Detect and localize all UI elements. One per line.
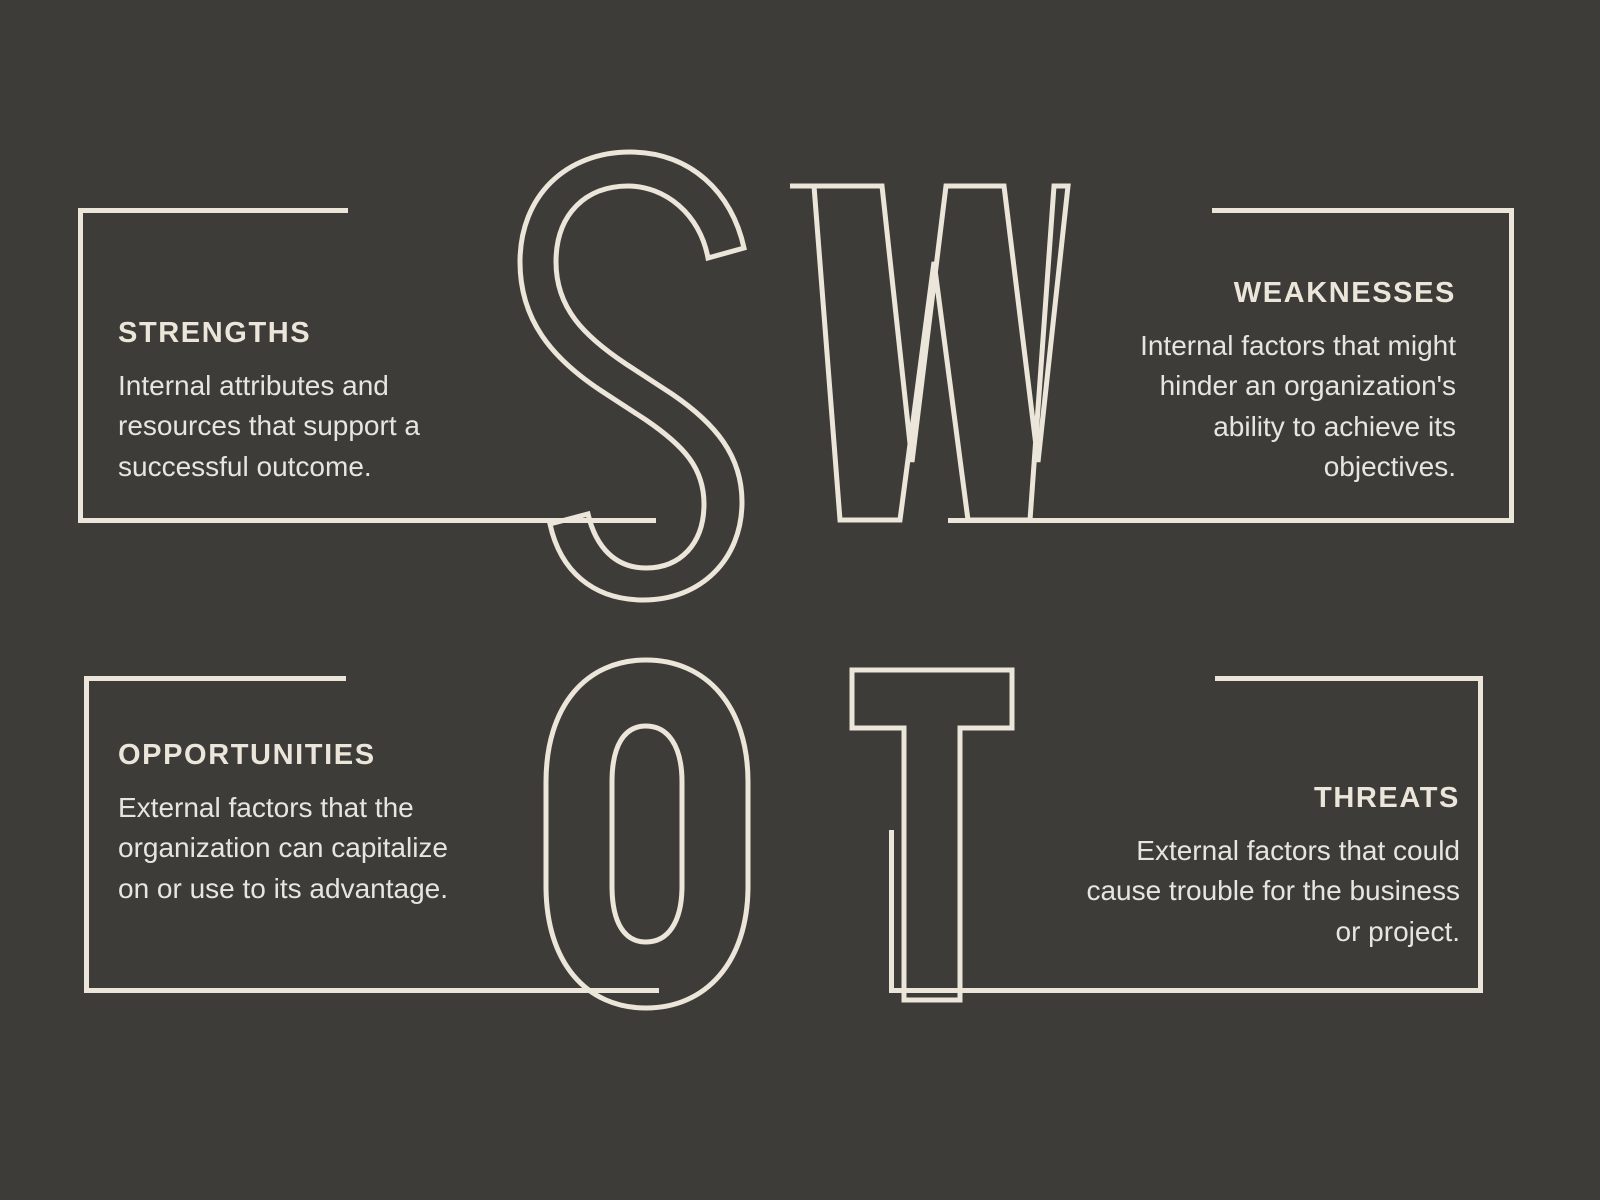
opportunities-frame-bottom-bar: [84, 988, 659, 993]
strengths-heading: STRENGTHS: [118, 318, 448, 350]
strengths-frame-top-bar: [78, 208, 348, 213]
weaknesses-heading: WEAKNESSES: [1122, 278, 1456, 310]
quadrant-strengths: STRENGTHS Internal attributes and resour…: [118, 318, 448, 487]
quadrant-opportunities: OPPORTUNITIES External factors that the …: [118, 740, 458, 909]
strengths-frame-bottom-bar: [78, 518, 656, 523]
threats-body: External factors that could cause troubl…: [1078, 831, 1460, 952]
letter-w-outline: [790, 186, 1068, 520]
threats-frame-right-bar: [1478, 676, 1483, 993]
threats-frame-left-bar: [889, 830, 894, 988]
letter-t-outline: [852, 670, 1012, 1000]
letter-s-outline: [520, 152, 744, 600]
opportunities-frame-top-bar: [84, 676, 346, 681]
quadrant-weaknesses: WEAKNESSES Internal factors that might h…: [1122, 278, 1456, 487]
weaknesses-frame-bottom-bar: [948, 518, 1514, 523]
threats-heading: THREATS: [1078, 783, 1460, 815]
swot-letters: [0, 0, 1600, 1200]
weaknesses-frame-right-bar: [1509, 208, 1514, 523]
weaknesses-body: Internal factors that might hinder an or…: [1122, 326, 1456, 487]
opportunities-heading: OPPORTUNITIES: [118, 740, 458, 772]
swot-diagram: STRENGTHS Internal attributes and resour…: [0, 0, 1600, 1200]
threats-frame-bottom-bar: [889, 988, 1483, 993]
threats-frame-top-bar: [1215, 676, 1480, 681]
weaknesses-frame-top-bar: [1212, 208, 1514, 213]
letter-o-outline: [546, 660, 748, 1008]
strengths-body: Internal attributes and resources that s…: [118, 366, 448, 487]
opportunities-body: External factors that the organization c…: [118, 788, 458, 909]
opportunities-frame-left-bar: [84, 676, 89, 993]
quadrant-threats: THREATS External factors that could caus…: [1078, 783, 1460, 952]
strengths-frame-left-bar: [78, 208, 83, 523]
